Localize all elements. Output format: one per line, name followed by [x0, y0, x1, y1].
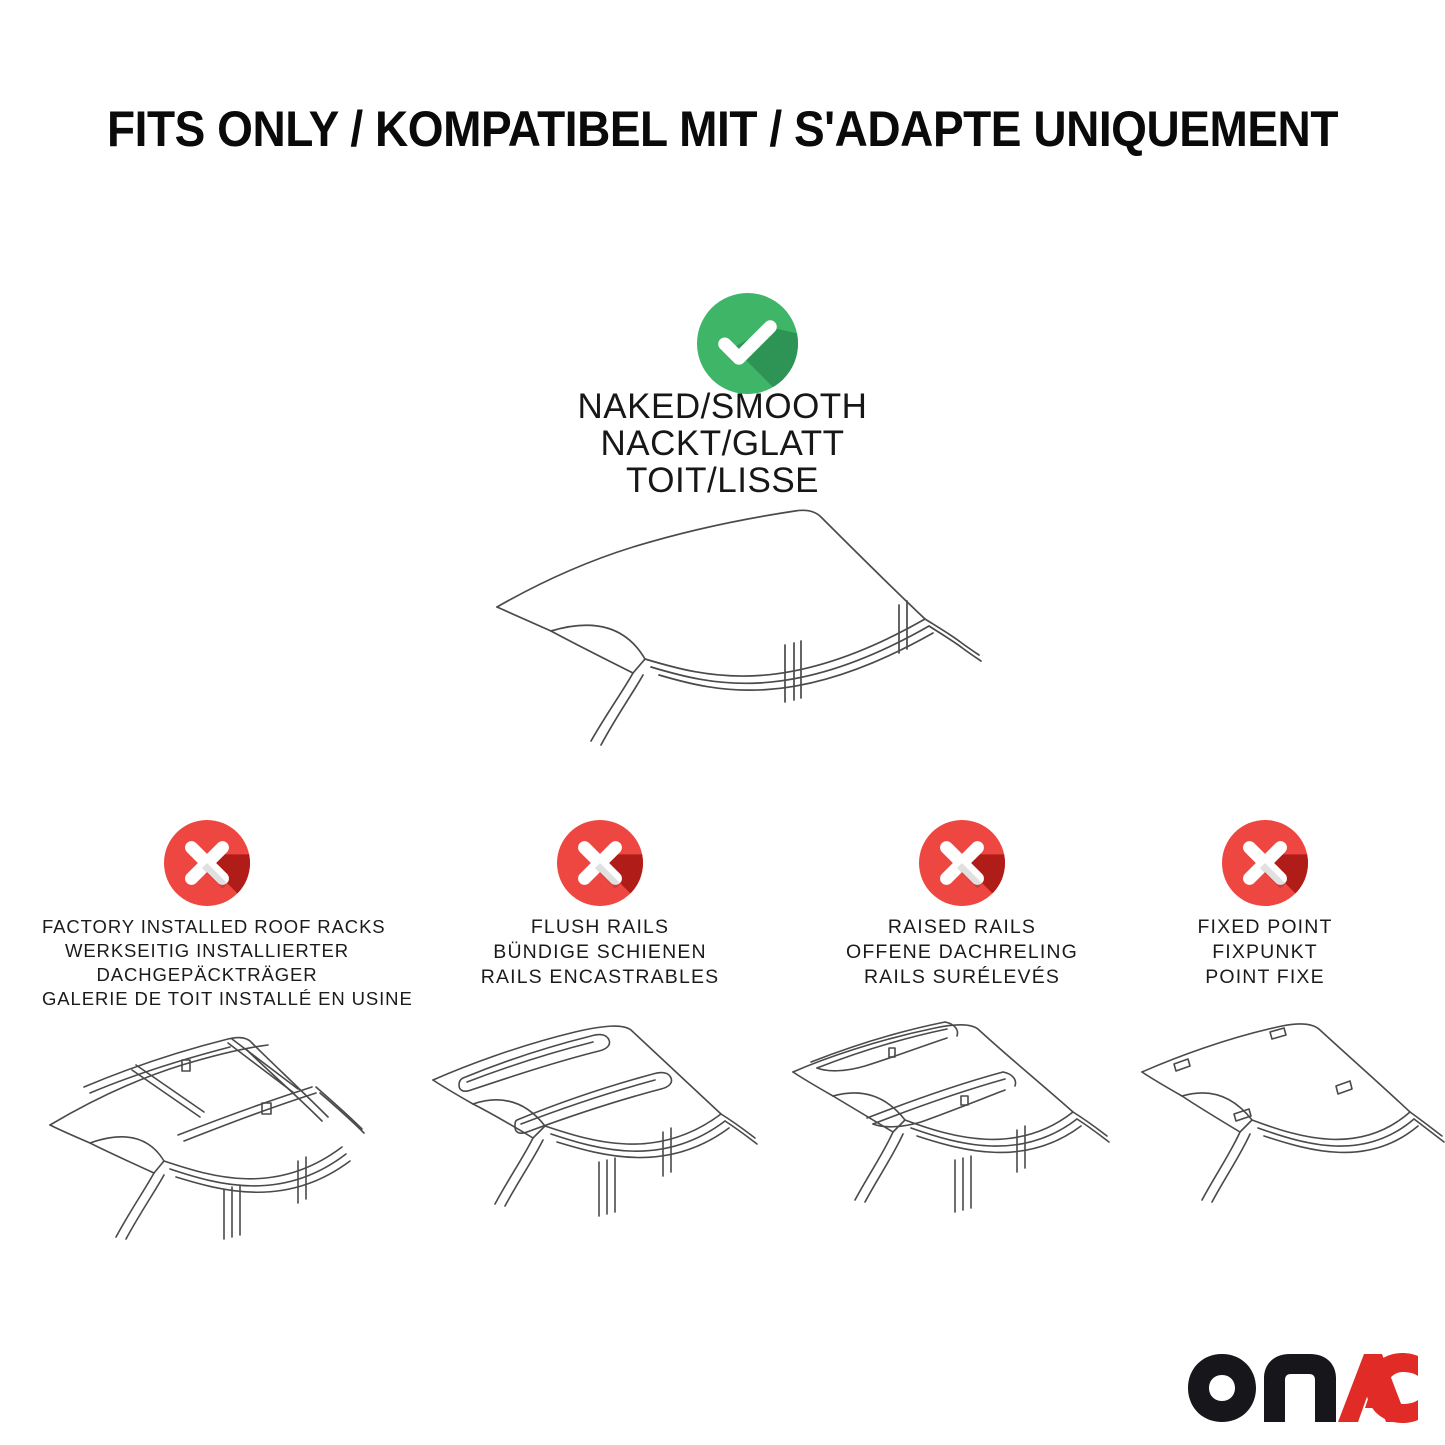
compatible-label: NAKED/SMOOTH NACKT/GLATT TOIT/LISSE: [0, 388, 1445, 499]
car-roof-factory-racks-illustration: [32, 1025, 382, 1255]
label-line-3: DACHGEPÄCKTRÄGER: [42, 963, 372, 987]
incompatible-label: RAISED RAILS OFFENE DACHRELING RAILS SUR…: [797, 915, 1127, 990]
label-line-2: BÜNDIGE SCHIENEN: [435, 940, 765, 965]
check-badge: [697, 293, 798, 394]
car-roof-raised-rails-illustration: [787, 1020, 1137, 1250]
compatible-label-line-2: NACKT/GLATT: [0, 425, 1445, 462]
cross-badge: [919, 820, 1005, 906]
cross-icon: [557, 820, 643, 906]
incompatible-label: FLUSH RAILS BÜNDIGE SCHIENEN RAILS ENCAS…: [435, 915, 765, 990]
label-line-3: POINT FIXE: [1100, 965, 1430, 990]
label-line-1: RAISED RAILS: [797, 915, 1127, 940]
compatible-label-line-1: NAKED/SMOOTH: [0, 388, 1445, 425]
check-icon: [697, 293, 798, 394]
label-line-2: OFFENE DACHRELING: [797, 940, 1127, 965]
car-roof-fixed-point-illustration: [1130, 1020, 1445, 1250]
omac-logo-mark: [1186, 1352, 1422, 1424]
cross-icon: [919, 820, 1005, 906]
cross-icon: [164, 820, 250, 906]
cross-badge: [164, 820, 250, 906]
omac-logo: [1186, 1352, 1422, 1424]
incompatible-label: FACTORY INSTALLED ROOF RACKS WERKSEITIG …: [42, 915, 372, 1011]
label-line-2: WERKSEITIG INSTALLIERTER: [42, 939, 372, 963]
page-title: FITS ONLY / KOMPATIBEL MIT / S'ADAPTE UN…: [58, 100, 1387, 158]
compatible-label-line-3: TOIT/LISSE: [0, 462, 1445, 499]
label-line-1: FLUSH RAILS: [435, 915, 765, 940]
label-line-4: GALERIE DE TOIT INSTALLÉ EN USINE: [42, 987, 372, 1011]
label-line-1: FACTORY INSTALLED ROOF RACKS: [42, 915, 372, 939]
car-roof-flush-rails-illustration: [425, 1020, 775, 1250]
label-line-2: FIXPUNKT: [1100, 940, 1430, 965]
label-line-1: FIXED POINT: [1100, 915, 1430, 940]
infographic-page: FITS ONLY / KOMPATIBEL MIT / S'ADAPTE UN…: [0, 0, 1445, 1445]
incompatible-label: FIXED POINT FIXPUNKT POINT FIXE: [1100, 915, 1430, 990]
cross-badge: [557, 820, 643, 906]
cross-icon: [1222, 820, 1308, 906]
car-roof-naked-smooth-illustration: [455, 495, 1015, 755]
label-line-3: RAILS SURÉLEVÉS: [797, 965, 1127, 990]
cross-badge: [1222, 820, 1308, 906]
label-line-3: RAILS ENCASTRABLES: [435, 965, 765, 990]
